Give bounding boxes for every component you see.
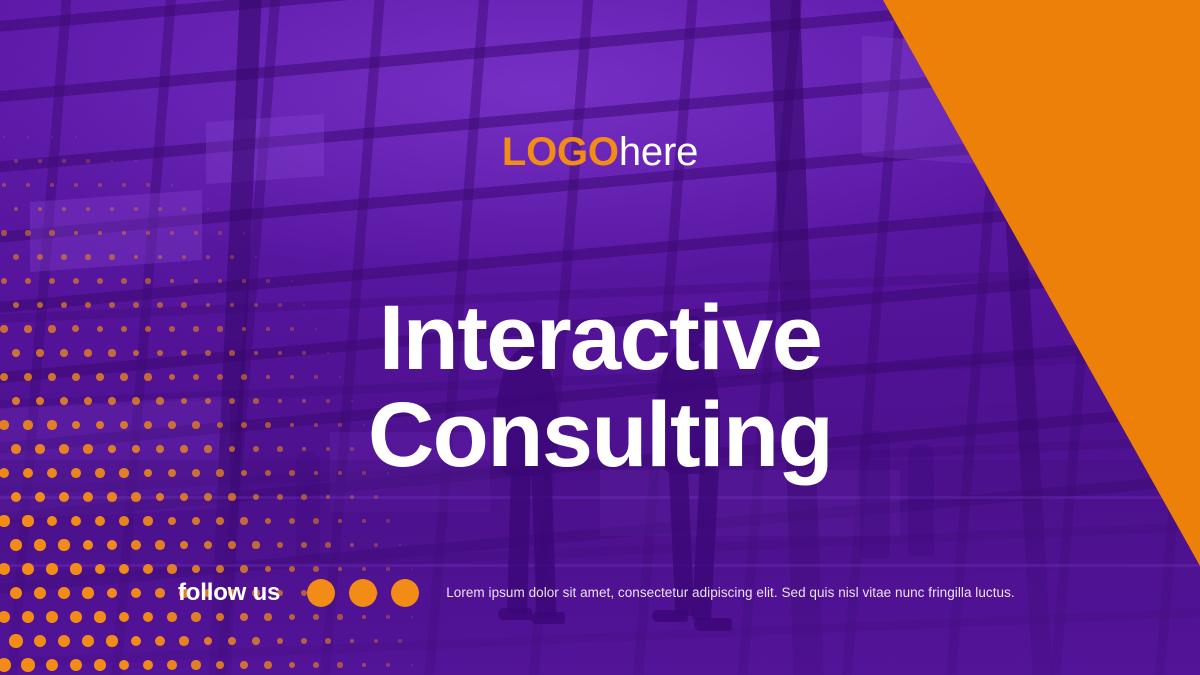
social-icon-2[interactable] bbox=[349, 579, 377, 607]
floor-line bbox=[0, 496, 1200, 499]
follow-us-label: follow us bbox=[178, 581, 280, 605]
page-title-line-2: Consulting bbox=[0, 387, 1200, 485]
footer-bar: follow us Lorem ipsum dolor sit amet, co… bbox=[178, 576, 1015, 610]
floor-line bbox=[0, 564, 1200, 567]
glass-pane bbox=[30, 190, 202, 272]
social-icon-3[interactable] bbox=[391, 579, 419, 607]
logo-word: here bbox=[619, 130, 698, 174]
person-silhouette-shoe bbox=[652, 610, 688, 622]
social-icon-1[interactable] bbox=[307, 579, 335, 607]
logo[interactable]: LOGOhere bbox=[0, 132, 1200, 172]
tagline-text: Lorem ipsum dolor sit amet, consectetur … bbox=[446, 586, 1014, 600]
person-silhouette-shoe bbox=[694, 618, 732, 631]
page-title: Interactive Consulting bbox=[0, 290, 1200, 485]
logo-mark: LOGO bbox=[502, 130, 619, 174]
presentation-slide: LOGOhere Interactive Consulting follow u… bbox=[0, 0, 1200, 675]
social-links bbox=[307, 579, 419, 607]
atrium-floor-band bbox=[0, 460, 1200, 675]
page-title-line-1: Interactive bbox=[0, 290, 1200, 388]
person-silhouette-shoe bbox=[531, 612, 565, 624]
